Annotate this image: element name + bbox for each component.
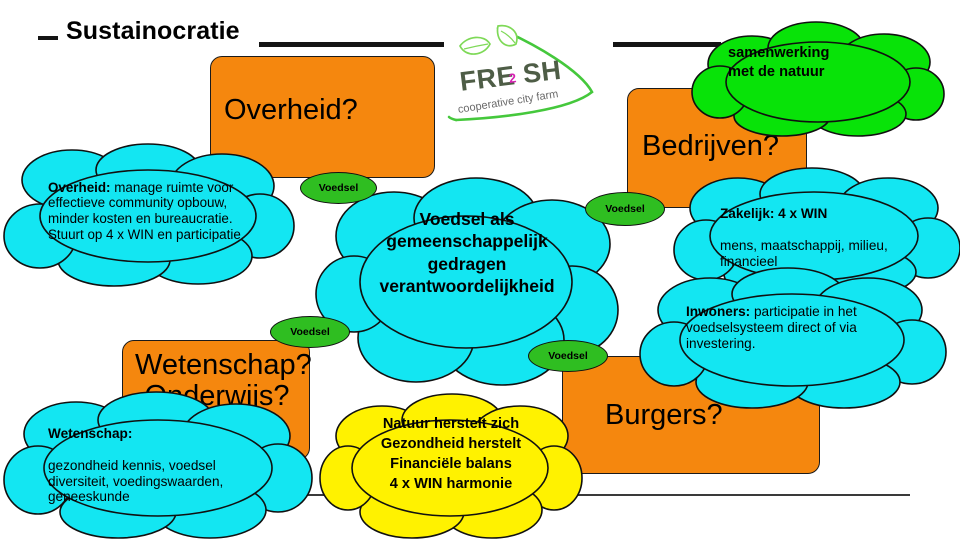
cloud-wetenschap-note-text: Wetenschap: gezondheid kennis, voedsel d… [48, 410, 258, 505]
pill-voedsel-wetenschap[interactable]: Voedsel [270, 316, 350, 348]
cloud-inwoners-note-text: Inwoners: participatie in het voedselsys… [686, 288, 886, 352]
cloud-natuur-note: samenwerking met de natuur [692, 20, 944, 136]
cloud-zakelijk-note-body: mens, maatschappij, milieu, financieel [720, 238, 888, 269]
cloud-harmonie-note-text: Natuur herstelt zich Gezondheid herstelt… [344, 414, 558, 495]
cloud-harmonie-note: Natuur herstelt zich Gezondheid herstelt… [320, 394, 582, 540]
cloud-overheid-note: Overheid: manage ruimte voor effectieve … [2, 144, 296, 284]
pill-voedsel-overheid[interactable]: Voedsel [300, 172, 377, 204]
box-overheid-label: Overheid? [224, 95, 358, 126]
cloud-natuur-note-text: samenwerking met de natuur [728, 44, 912, 82]
pill-voedsel-wetenschap-label: Voedsel [290, 326, 330, 338]
header-dash [38, 36, 58, 40]
cloud-wetenschap-note: Wetenschap: gezondheid kennis, voedsel d… [4, 392, 314, 538]
page-title: Sustainocratie [66, 17, 240, 46]
pill-voedsel-bedrijven-label: Voedsel [605, 203, 645, 215]
slide-canvas: Sustainocratie Overheid? Bedrijven? Wete… [0, 0, 960, 540]
pill-voedsel-burgers-label: Voedsel [548, 350, 588, 362]
cloud-inwoners-note: Inwoners: participatie in het voedselsys… [640, 268, 948, 408]
cloud-inwoners-note-lead: Inwoners: [686, 304, 750, 319]
cloud-center-text: Voedsel als gemeenschappelijk gedragen v… [338, 208, 596, 298]
pill-voedsel-bedrijven[interactable]: Voedsel [585, 192, 665, 226]
cloud-zakelijk-note-text: Zakelijk: 4 x WIN mens, maatschappij, mi… [720, 190, 944, 269]
cloud-zakelijk-note-lead: Zakelijk: 4 x WIN [720, 206, 827, 221]
cloud-wetenschap-note-body: gezondheid kennis, voedsel diversiteit, … [48, 458, 223, 505]
cloud-overheid-note-lead: Overheid: [48, 180, 111, 195]
cloud-overheid-note-text: Overheid: manage ruimte voor effectieve … [48, 164, 264, 242]
cloud-wetenschap-note-lead: Wetenschap: [48, 426, 132, 441]
pill-voedsel-overheid-label: Voedsel [319, 182, 359, 194]
fresh-logo: FRE SH 2 cooperative city farm [440, 22, 615, 132]
pill-voedsel-burgers[interactable]: Voedsel [528, 340, 608, 372]
header-rule-left [259, 42, 444, 47]
